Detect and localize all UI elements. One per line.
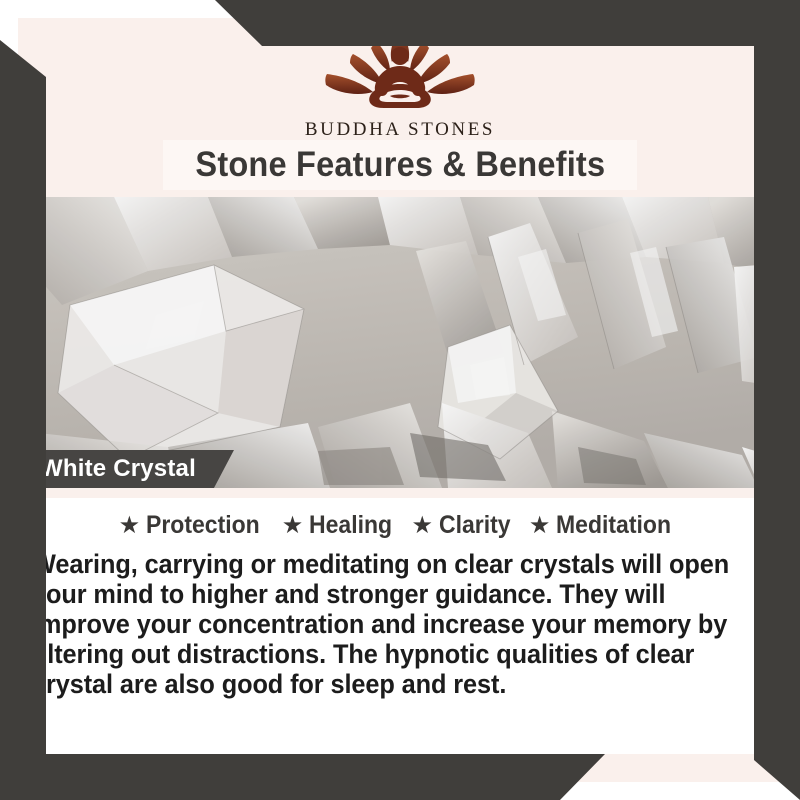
stone-info-poster: BUDDHA STONES Stone Features & Benefits: [0, 0, 800, 800]
stone-name-tag: White Crystal: [18, 450, 234, 488]
page-title: Stone Features & Benefits: [195, 145, 605, 185]
benefit-label: Meditation: [556, 511, 671, 540]
benefit-item-clarity: ★ Clarity: [412, 511, 517, 540]
star-icon: ★: [412, 514, 434, 538]
title-banner: Stone Features & Benefits: [163, 140, 637, 190]
stone-name-label: White Crystal: [40, 455, 196, 483]
benefit-label: Healing: [309, 511, 392, 540]
star-icon: ★: [529, 514, 551, 538]
star-icon: ★: [282, 514, 304, 538]
star-icon: ★: [119, 514, 141, 538]
benefits-list: ★ Protection ★ Healing ★ Clarity ★ Medit…: [18, 498, 782, 540]
crystal-photo-band: [18, 197, 782, 488]
content-area: ★ Protection ★ Healing ★ Clarity ★ Medit…: [18, 498, 782, 754]
benefit-item-meditation: ★ Meditation: [529, 511, 682, 540]
benefit-item-protection: ★ Protection: [119, 511, 270, 540]
white-crystal-cluster-photo: [18, 197, 782, 488]
benefit-label: Clarity: [439, 511, 511, 540]
frame-accent-left: [0, 0, 46, 800]
brand-name: BUDDHA STONES: [305, 119, 495, 141]
stone-description: Wearing, carrying or meditating on clear…: [32, 550, 735, 700]
frame-accent-right: [754, 0, 800, 800]
benefit-label: Protection: [146, 511, 260, 540]
benefit-item-healing: ★ Healing: [282, 511, 400, 540]
